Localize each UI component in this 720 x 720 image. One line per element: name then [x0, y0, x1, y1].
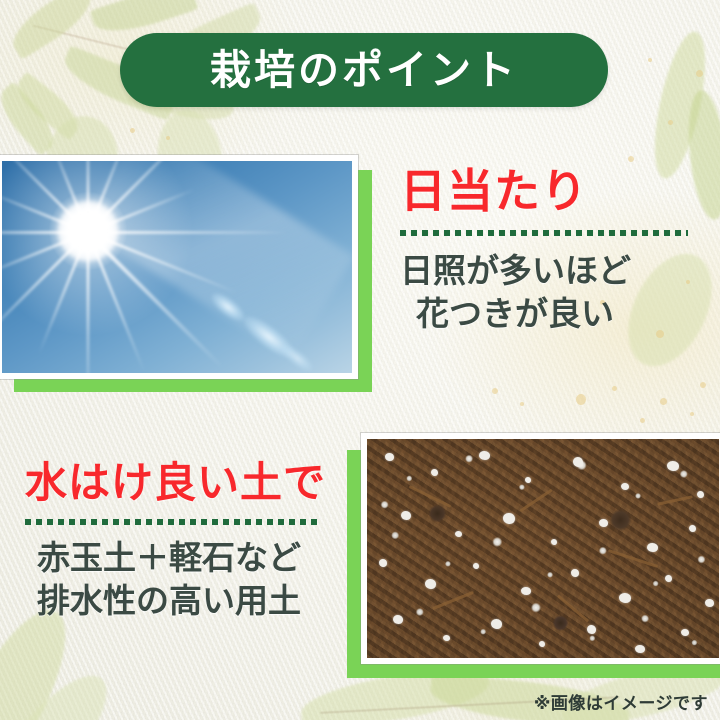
sunlight-body-line-1: 日照が多いほど — [400, 250, 690, 293]
sun-photo-frame — [0, 155, 358, 379]
drainage-body-line-2: 排水性の高い用土 — [37, 580, 325, 623]
page-title: 栽培のポイント — [210, 50, 518, 91]
drainage-divider — [25, 519, 321, 525]
section-drainage: 水はけ良い土で 赤玉土＋軽石など 排水性の高い用土 — [25, 462, 325, 623]
drainage-heading: 水はけ良い土で — [25, 462, 325, 505]
soil-photo-frame — [361, 433, 720, 664]
sun-sky-photo — [2, 161, 352, 373]
soil-mix-photo — [367, 439, 719, 658]
infographic-canvas: 栽培のポイント — [0, 0, 720, 720]
sunlight-divider — [400, 230, 688, 236]
image-disclaimer-note: ※画像はイメージです — [534, 689, 708, 714]
sunlight-heading: 日当たり — [400, 168, 690, 215]
section-sunlight: 日当たり 日照が多いほど 花つきが良い — [400, 168, 690, 336]
page-title-banner: 栽培のポイント — [120, 33, 608, 107]
drainage-body-line-1: 赤玉土＋軽石など — [37, 537, 325, 580]
sunlight-body-line-2: 花つきが良い — [416, 293, 690, 336]
